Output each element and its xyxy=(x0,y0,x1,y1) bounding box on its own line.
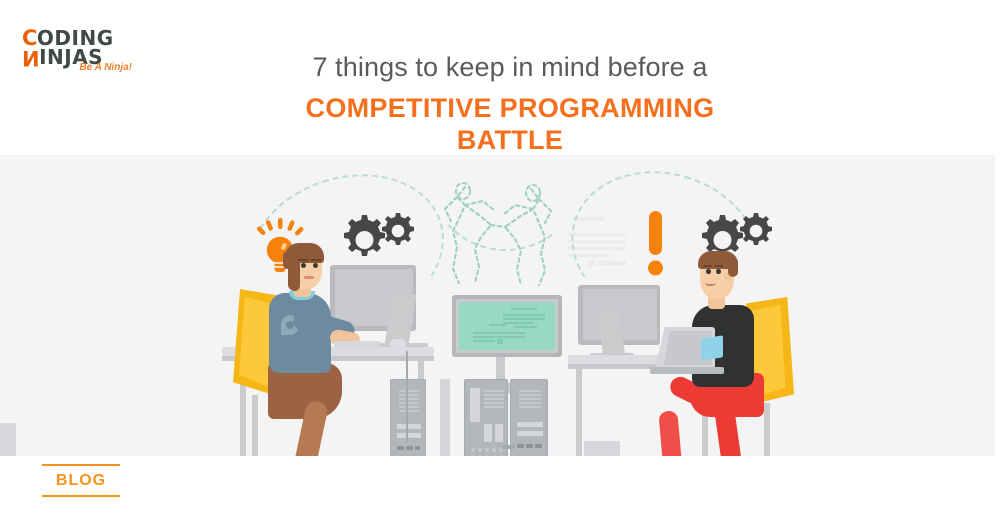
center-pc-tower-second xyxy=(510,379,548,456)
ninja-silhouette-dotted-icon xyxy=(435,175,565,295)
blog-badge-bottom-rule xyxy=(42,495,120,497)
floor-box xyxy=(0,423,16,456)
right-chair-post xyxy=(764,403,770,456)
title-mainline: COMPETITIVE PROGRAMMING BATTLE xyxy=(250,92,770,156)
left-chair-post xyxy=(252,395,258,456)
center-pc-tower xyxy=(464,379,508,456)
logo-letter-n: N xyxy=(22,48,39,67)
page-title: 7 things to keep in mind before a COMPET… xyxy=(250,50,770,156)
center-tower-connector xyxy=(503,445,515,449)
exclamation-mark-icon xyxy=(645,211,667,276)
coding-ninjas-logo[interactable]: C ODING N INJAS Be A Ninja! xyxy=(22,28,132,76)
floor-box xyxy=(584,441,620,456)
left-keyboard xyxy=(334,341,380,348)
left-chair-inner xyxy=(239,297,271,387)
right-desk-leg xyxy=(576,369,582,456)
header: C ODING N INJAS Be A Ninja! 7 things to … xyxy=(0,0,1000,155)
hero-illustration xyxy=(0,155,995,456)
page-root: C ODING N INJAS Be A Ninja! 7 things to … xyxy=(0,0,1000,518)
background-pillar xyxy=(440,379,450,456)
left-mouse xyxy=(390,339,406,348)
center-monitor-screen xyxy=(459,302,555,350)
blog-badge-label: BLOG xyxy=(42,466,120,495)
title-subline: 7 things to keep in mind before a xyxy=(250,50,770,84)
blog-badge[interactable]: BLOG xyxy=(42,464,120,497)
left-pc-tower xyxy=(390,379,426,456)
logo-tagline: Be A Ninja! xyxy=(79,62,132,73)
left-tower-cable xyxy=(406,351,408,443)
gears-icon xyxy=(330,207,416,273)
